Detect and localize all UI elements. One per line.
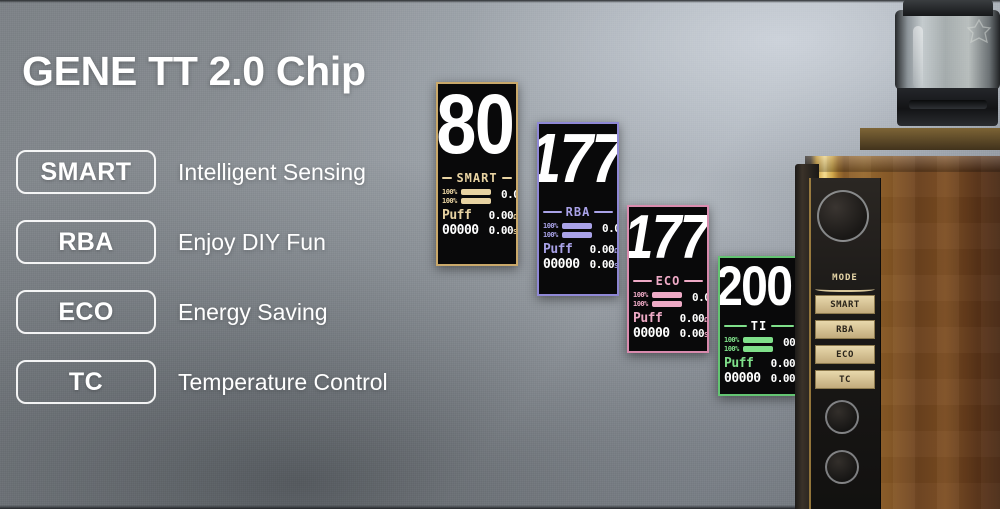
tank-assembly [895, 0, 1000, 142]
list-item: SMART Intelligent Sensing [16, 148, 388, 196]
smart-mode-banner: SMART [438, 171, 516, 185]
eco-banner-bar-left [633, 280, 652, 282]
eco-puff-label: Puff [633, 311, 670, 326]
mode-menu-title: MODE [809, 273, 881, 283]
feature-pill-rba: RBA [16, 220, 156, 264]
rba-readout-seconds: 0.00S [590, 258, 618, 271]
feature-desc-tc: Temperature Control [178, 369, 388, 396]
mode-menu: MODE SMART RBA ECO TC [809, 273, 881, 395]
eco-screen-body: 100% 100% 0.00V Puff 00000 [629, 288, 707, 344]
eco-battery-1-bar [652, 292, 682, 298]
smart-battery-2: 100% [442, 197, 491, 205]
eco-readout-voltage: 0.00V [692, 291, 709, 304]
tc-temperature-value: 200 [718, 260, 791, 312]
mode-menu-item-rba[interactable]: RBA [815, 320, 875, 339]
mode-menu-item-tc[interactable]: TC [815, 370, 875, 389]
tc-screen-body: 100% 100% 000W Puff 00000 [720, 333, 798, 389]
smart-wattage-unit: W [517, 156, 518, 167]
tc-battery-2-bar [743, 346, 773, 352]
rba-banner-bar-right [594, 211, 613, 213]
smart-readout-resistance: 0.00Ω [489, 209, 517, 222]
tc-battery-1-percent: 100% [724, 336, 743, 344]
rba-mode-label: RBA [566, 205, 591, 219]
feature-pill-smart: SMART [16, 150, 156, 194]
tank-engraving-icon [966, 18, 992, 48]
feature-list: SMART Intelligent Sensing RBA Enjoy DIY … [16, 148, 388, 428]
tc-mode-label: TI [751, 319, 767, 333]
eco-readout-resistance: 0.00Ω [680, 312, 708, 325]
smart-battery-2-bar [461, 198, 491, 204]
smart-mode-label: SMART [456, 171, 497, 185]
smart-battery-1-bar [461, 189, 491, 195]
device-screen-tc: 200 °F TI 100% 100% 000W [718, 256, 800, 396]
adjust-down-button[interactable] [825, 450, 859, 484]
eco-battery-2: 100% [633, 300, 682, 308]
eco-battery-1: 100% [633, 291, 682, 299]
feature-pill-eco: ECO [16, 290, 156, 334]
page-title: GENE TT 2.0 Chip [22, 48, 366, 95]
rba-readout-voltage: 0.00V [602, 222, 619, 235]
device-mod: MODE SMART RBA ECO TC [795, 138, 1000, 509]
feature-desc-smart: Intelligent Sensing [178, 159, 366, 186]
feature-pill-tc: TC [16, 360, 156, 404]
smart-main-readout: 80 W [438, 84, 516, 170]
tank-airflow-slot [909, 100, 987, 109]
rba-screen-body: 100% 100% 0.00V Puff 00000 [539, 219, 617, 275]
feature-desc-rba: Enjoy DIY Fun [178, 229, 326, 256]
rba-wattage-value: 177 [537, 126, 619, 190]
rba-main-readout: 177 W [539, 124, 617, 204]
mode-menu-item-smart[interactable]: SMART [815, 295, 875, 314]
smart-battery-1-percent: 100% [442, 188, 461, 196]
eco-mode-label: ECO [656, 274, 681, 288]
device-screen-smart: 80 W SMART 100% 100% 0.00V [436, 82, 518, 266]
tc-banner-bar-left [724, 325, 747, 327]
top-edge-shadow [0, 0, 1000, 3]
smart-banner-bar-left [442, 177, 452, 179]
device-screen-eco: 177 W ECO 100% 100% 0.00V [627, 205, 709, 353]
smart-banner-bar-right [502, 177, 512, 179]
list-item: TC Temperature Control [16, 358, 388, 406]
eco-readout-seconds: 0.00S [680, 327, 708, 340]
tc-mode-banner: TI [720, 319, 798, 333]
fire-button[interactable] [817, 190, 869, 242]
smart-battery-2-percent: 100% [442, 197, 461, 205]
rba-battery-2-bar [562, 232, 592, 238]
smart-battery-1: 100% [442, 188, 491, 196]
list-item: RBA Enjoy DIY Fun [16, 218, 388, 266]
rba-battery-2-percent: 100% [543, 231, 562, 239]
tank-glass-highlight [913, 26, 923, 88]
rba-battery-2: 100% [543, 231, 592, 239]
list-item: ECO Energy Saving [16, 288, 388, 336]
adjust-up-button[interactable] [825, 400, 859, 434]
eco-mode-banner: ECO [629, 274, 707, 288]
rba-battery-1: 100% [543, 222, 592, 230]
tc-battery-1-bar [743, 337, 773, 343]
eco-banner-bar-right [684, 280, 703, 282]
device-screen-rba: 177 W RBA 100% 100% 0.00V [537, 122, 619, 296]
tc-battery-2: 100% [724, 345, 773, 353]
rba-battery-1-bar [562, 223, 592, 229]
smart-wattage-value: 80 [436, 86, 513, 163]
eco-battery-2-percent: 100% [633, 300, 652, 308]
rba-puff-label: Puff [543, 242, 580, 257]
smart-puff-label: Puff [442, 208, 479, 223]
tc-main-readout: 200 °F [720, 258, 798, 318]
smart-puff-count: 00000 [442, 223, 479, 238]
eco-battery-1-percent: 100% [633, 291, 652, 299]
eco-main-readout: 177 W [629, 207, 707, 273]
mode-menu-divider [815, 285, 875, 292]
rba-readout-resistance: 0.00Ω [590, 243, 618, 256]
tank-top-cap [903, 0, 993, 16]
smart-readout-voltage: 0.00V [501, 188, 518, 201]
tc-battery-2-percent: 100% [724, 345, 743, 353]
rba-mode-banner: RBA [539, 205, 617, 219]
eco-battery-2-bar [652, 301, 682, 307]
mode-menu-item-eco[interactable]: ECO [815, 345, 875, 364]
rba-puff-count: 00000 [543, 257, 580, 272]
mod-top-bevel [805, 156, 1000, 172]
eco-wattage-value: 177 [627, 209, 708, 266]
tc-battery-1: 100% [724, 336, 773, 344]
rba-banner-bar-left [543, 211, 562, 213]
tc-puff-label: Puff [724, 356, 761, 371]
tc-banner-bar-right [771, 325, 794, 327]
eco-puff-count: 00000 [633, 326, 670, 341]
tc-puff-count: 00000 [724, 371, 761, 386]
rba-battery-1-percent: 100% [543, 222, 562, 230]
smart-screen-body: 100% 100% 0.00V Puff 00000 [438, 185, 516, 241]
smart-readout-seconds: 0.00S [489, 224, 517, 237]
feature-desc-eco: Energy Saving [178, 299, 328, 326]
